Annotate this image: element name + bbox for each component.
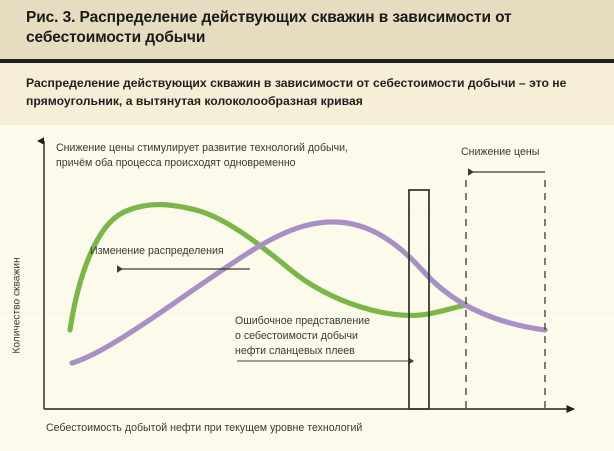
note-distribution-change: Изменение распределения (90, 244, 224, 259)
y-axis-label: Количество скважин (12, 246, 23, 366)
x-axis-label: Себестоимость добытой нефти при текущем … (46, 422, 362, 434)
figure-subtitle: Распределение действующих скважин в зави… (26, 75, 592, 110)
series-green-curve (70, 205, 466, 330)
figure-title: Рис. 3. Распределение действующих скважи… (26, 8, 586, 49)
subtitle-band: Распределение действующих скважин в зави… (0, 63, 614, 125)
chart-area: Снижение цены стимулирует развитие техно… (0, 125, 614, 451)
note-price-drop: Снижение цены стимулирует развитие техно… (56, 141, 406, 171)
title-band-inner: Рис. 3. Распределение действующих скважи… (26, 8, 586, 49)
chart-graphic (0, 125, 614, 451)
label-price-reduction: Снижение цены (461, 145, 539, 160)
title-band: Рис. 3. Распределение действующих скважи… (0, 0, 614, 59)
note-wrong-idea: Ошибочное представление о себестоимости … (235, 314, 415, 359)
wrong-idea-rectangle (409, 190, 429, 409)
figure-container: Рис. 3. Распределение действующих скважи… (0, 0, 614, 451)
background-texture-lines (0, 213, 614, 313)
